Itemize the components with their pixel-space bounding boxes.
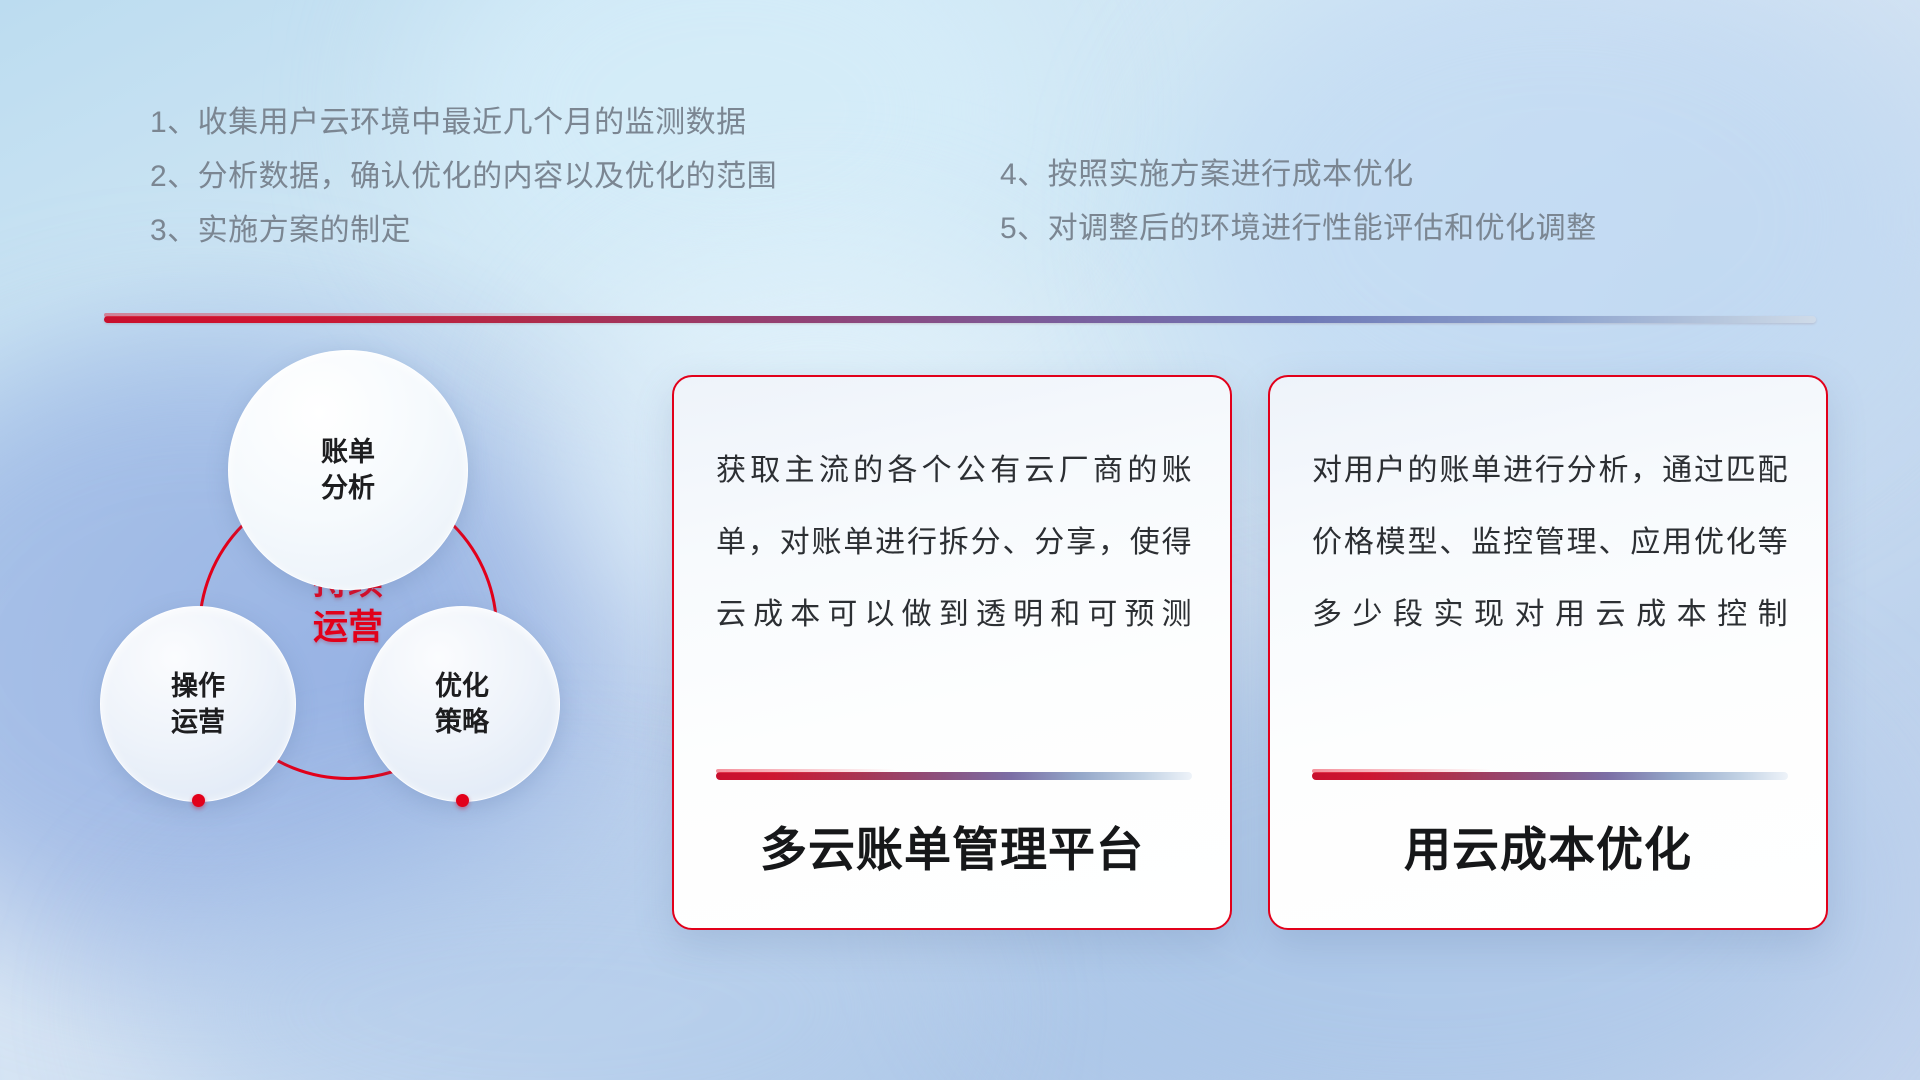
card-title: 多云账单管理平台 [674,811,1230,880]
card-body-text: 获取主流的各个公有云厂商的账单，对账单进行拆分、分享，使得云成本可以做到透明和可… [716,435,1192,651]
step-item-3: 3、实施方案的制定 [150,204,777,258]
bubble-operations-label: 操作 运营 [171,668,225,740]
steps-right-column: 4、按照实施方案进行成本优化 5、对调整后的环境进行性能评估和优化调整 [1000,148,1597,256]
bubble-label-line-1: 操作 [171,668,225,704]
card-accent-rule [716,772,1192,780]
bubble-label-line-2: 策略 [435,704,489,740]
step-item-5: 5、对调整后的环境进行性能评估和优化调整 [1000,202,1597,256]
step-item-4: 4、按照实施方案进行成本优化 [1000,148,1597,202]
card-title: 用云成本优化 [1270,811,1826,880]
step-item-2: 2、分析数据，确认优化的内容以及优化的范围 [150,150,777,204]
continuous-operations-diagram: 持续 运营 账单 分析 操作 运营 优化 策略 [100,350,620,950]
bubble-billing-analysis-label: 账单 分析 [321,434,375,506]
slide-canvas: 1、收集用户云环境中最近几个月的监测数据 2、分析数据，确认优化的内容以及优化的… [0,0,1920,1080]
bubble-operations[interactable]: 操作 运营 [100,606,296,802]
step-item-1: 1、收集用户云环境中最近几个月的监测数据 [150,96,777,150]
bubble-label-line-1: 优化 [435,668,489,704]
card-accent-rule [1312,772,1788,780]
bubble-label-line-2: 运营 [171,704,225,740]
card-multi-cloud-billing-platform[interactable]: 获取主流的各个公有云厂商的账单，对账单进行拆分、分享，使得云成本可以做到透明和可… [672,375,1232,930]
card-body-text: 对用户的账单进行分析，通过匹配价格模型、监控管理、应用优化等多少段实现对用云成本… [1312,435,1788,651]
bubble-optimization-strategy-label: 优化 策略 [435,668,489,740]
card-cloud-cost-optimization[interactable]: 对用户的账单进行分析，通过匹配价格模型、监控管理、应用优化等多少段实现对用云成本… [1268,375,1828,930]
bubble-label-line-1: 账单 [321,434,375,470]
bubble-billing-analysis[interactable]: 账单 分析 [228,350,468,590]
bubble-label-line-2: 分析 [321,470,375,506]
node-dot-operations [192,794,205,807]
steps-left-column: 1、收集用户云环境中最近几个月的监测数据 2、分析数据，确认优化的内容以及优化的… [150,96,777,258]
node-dot-optimization-strategy [456,794,469,807]
section-divider-rule [104,316,1816,323]
bubble-optimization-strategy[interactable]: 优化 策略 [364,606,560,802]
